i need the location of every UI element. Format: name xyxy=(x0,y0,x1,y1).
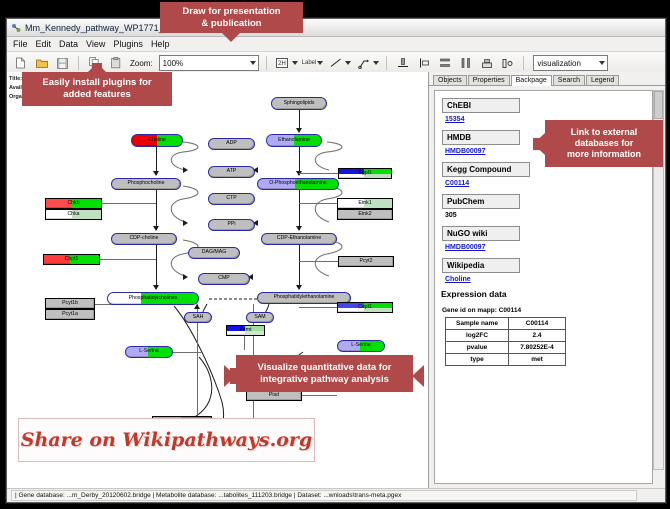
toolbar-separator-3 xyxy=(386,56,387,70)
edge-pcyt2-to-spine xyxy=(299,261,338,262)
node-sah[interactable]: SAH xyxy=(184,312,212,323)
edge-phosphocholine-cdpcholine xyxy=(156,190,157,230)
toolbar-separator xyxy=(78,56,79,70)
node-label: SAH xyxy=(193,315,204,320)
node-label: L-Serine xyxy=(351,343,371,348)
distribute-horizontal-icon[interactable] xyxy=(457,55,474,72)
node-phosphocholine[interactable]: Phosphocholine xyxy=(111,178,181,190)
node-gene-chkb[interactable]: Chkb xyxy=(45,198,102,209)
tab-search[interactable]: Search xyxy=(553,75,585,85)
label-tool[interactable]: Label xyxy=(302,60,324,66)
node-choline-top[interactable]: Choline xyxy=(131,134,183,147)
node-gene-chpt1[interactable]: Chpt1 xyxy=(43,254,100,265)
node-label: Phosphatidylcholines xyxy=(129,296,178,301)
node-label: Pcyt1b xyxy=(62,301,78,306)
menu-item-view[interactable]: View xyxy=(86,39,105,49)
menu-item-plugins[interactable]: Plugins xyxy=(113,39,143,49)
node-cmp[interactable]: CMP xyxy=(198,273,250,285)
table-cell-key: pvalue xyxy=(446,342,509,354)
arrow-right-icon xyxy=(183,167,188,173)
paste-icon[interactable] xyxy=(107,55,124,72)
node-label: Choline xyxy=(148,138,166,143)
table-row: log2FC 2.4 xyxy=(446,330,566,342)
table-cell-key: Sample name xyxy=(446,318,509,330)
callout-pointer-right xyxy=(224,365,236,387)
table-row: Sample name C00114 xyxy=(446,318,566,330)
chevron-down-icon[interactable] xyxy=(317,61,323,65)
canvas-info-title: Title: xyxy=(9,76,22,82)
node-label: Sgpl1 xyxy=(358,171,371,176)
node-sphingolipids[interactable]: Sphingolipids xyxy=(271,97,327,110)
node-label: Pcyt1a xyxy=(62,312,78,317)
tab-legend[interactable]: Legend xyxy=(586,75,619,85)
table-cell-key: log2FC xyxy=(446,330,509,342)
chevron-down-icon[interactable] xyxy=(373,61,379,65)
expression-data-heading: Expression data xyxy=(441,289,652,299)
node-cdp-ethanolamine[interactable]: CDP-Ethanolamine xyxy=(261,233,337,245)
db-header-chebi: ChEBI xyxy=(442,98,520,113)
screenshot-root: Mm_Kennedy_pathway_WP1771_45176.gpml Fil… xyxy=(0,0,670,509)
db-link-nugo-wiki[interactable]: HMDB00097 xyxy=(445,244,652,251)
node-ppi[interactable]: PPi xyxy=(208,219,255,231)
edge-chpt1-to-spine xyxy=(100,259,156,260)
node-gene-chka[interactable]: Chka xyxy=(45,209,102,220)
node-gene-pemt[interactable]: Pemt xyxy=(226,325,265,336)
edge-chk-to-spine xyxy=(102,203,156,204)
db-value-pubchem: 305 xyxy=(445,212,652,219)
node-label: ADP xyxy=(226,141,237,146)
arrow-right-icon xyxy=(183,274,188,280)
links-callout: Link to external databases for more info… xyxy=(545,120,663,167)
menu-item-edit[interactable]: Edit xyxy=(36,39,52,49)
edge-lserine-to-ptdss1 xyxy=(173,352,203,353)
node-gene-pcyt2[interactable]: Pcyt2 xyxy=(338,256,394,267)
node-label: CDP-Ethanolamine xyxy=(277,236,321,241)
arrow-down-icon xyxy=(296,226,302,231)
node-label: SAM xyxy=(254,315,265,320)
draw-callout: Draw for presentation & publication xyxy=(160,2,303,33)
db-header-nugo-wiki: NuGO wiki xyxy=(442,226,520,241)
callout-pointer-up xyxy=(88,63,106,72)
db-header-kegg-compound: Kegg Compound xyxy=(442,162,530,177)
chevron-down-icon xyxy=(250,61,256,65)
toolbar-separator-2 xyxy=(266,56,267,70)
interaction-icon[interactable] xyxy=(355,55,372,72)
stack-icon[interactable] xyxy=(478,55,495,72)
node-gene-sgpl1[interactable]: Sgpl1 xyxy=(338,168,392,179)
visualize-callout: Visualize quantitative data for integrat… xyxy=(236,355,413,392)
node-gene-etnk2[interactable]: Etnk2 xyxy=(337,209,393,220)
status-bar: | Gene database: ...m_Derby_20120602.bri… xyxy=(7,488,665,502)
tab-objects[interactable]: Objects xyxy=(433,75,467,85)
edge-sgpl1-to-spine xyxy=(299,173,338,174)
node-label: Chkb xyxy=(67,201,79,206)
node-label: Sphingolipids xyxy=(284,101,315,106)
expression-table: Sample name C00114 log2FC 2.4 pvalue 7.8… xyxy=(445,317,566,366)
open-folder-icon[interactable] xyxy=(33,55,50,72)
node-adp[interactable]: ADP xyxy=(208,138,255,150)
datanode-icon[interactable]: 2H xyxy=(274,55,291,72)
plugins-callout: Easily install plugins for added feature… xyxy=(22,72,172,106)
share-callout-text: Share on Wikipathways.org xyxy=(21,429,312,451)
callout-pointer-left xyxy=(533,133,545,155)
edge-cept1-to-spine xyxy=(299,307,337,308)
edge-cdpcholine-ptdcholine xyxy=(156,245,157,289)
node-l-serine-left[interactable]: L-Serine xyxy=(125,346,173,358)
node-gene-cept1[interactable]: Cept1 xyxy=(337,302,393,313)
table-cell-value: 7.80252E-4 xyxy=(509,342,566,354)
db-link-wikipedia[interactable]: Choline xyxy=(445,276,652,283)
arrow-down-icon xyxy=(153,171,159,176)
db-header-hmdb: HMDB xyxy=(442,130,520,145)
status-bar-text: | Gene database: ...m_Derby_20120602.bri… xyxy=(11,490,637,501)
visualization-value: visualization xyxy=(537,59,581,68)
node-label: Etnk1 xyxy=(358,201,371,206)
table-cell-key: type xyxy=(446,354,509,366)
align-top-icon[interactable] xyxy=(394,55,411,72)
edge-cdpeth-ptdeth xyxy=(299,245,300,289)
line-icon[interactable] xyxy=(327,55,344,72)
arrow-right-icon xyxy=(183,220,188,226)
node-label: O-Phosphoethanolamine xyxy=(269,181,326,186)
callout-pointer-down xyxy=(222,33,240,42)
distribute-vertical-icon[interactable] xyxy=(436,55,453,72)
title-bar: Mm_Kennedy_pathway_WP1771_45176.gpml xyxy=(7,19,665,37)
node-ethanolamine-top[interactable]: Ethanolamine xyxy=(266,134,322,147)
menu-item-help[interactable]: Help xyxy=(151,39,170,49)
zoom-value: 100% xyxy=(163,59,183,68)
save-icon[interactable] xyxy=(54,55,71,72)
node-label: Phosphatidylethanolamine xyxy=(274,295,335,300)
table-cell-value: met xyxy=(509,354,566,366)
node-gene-pcyt1a[interactable]: Pcyt1a xyxy=(45,309,95,320)
table-cell-value: 2.4 xyxy=(509,330,566,342)
node-label: Etnk2 xyxy=(358,212,371,217)
arrow-up-icon xyxy=(194,304,200,309)
node-gene-pcyt1b[interactable]: Pcyt1b xyxy=(45,298,95,309)
node-label: PPi xyxy=(227,222,235,227)
chevron-down-icon xyxy=(599,61,605,65)
node-label: CMP xyxy=(218,276,230,281)
chevron-down-icon[interactable] xyxy=(292,61,298,65)
scrollbar-thumb[interactable] xyxy=(654,91,663,119)
visualization-combo[interactable]: visualization xyxy=(533,55,608,71)
node-cdp-choline[interactable]: CDP-choline xyxy=(111,233,177,245)
node-label: Pcyt2 xyxy=(360,259,373,264)
edge-ophospho-cdpeth xyxy=(299,190,300,230)
new-file-icon[interactable] xyxy=(12,55,29,72)
line-tool[interactable] xyxy=(327,55,351,72)
edge-pisd-to-ptdss2 xyxy=(302,395,337,396)
arrow-down-icon xyxy=(296,128,302,133)
share-callout: Share on Wikipathways.org xyxy=(18,418,315,462)
edge-ptdcholine-down xyxy=(197,304,198,434)
datanode-tool[interactable]: 2H xyxy=(274,55,298,72)
interaction-tool[interactable] xyxy=(355,55,379,72)
align-left-icon[interactable] xyxy=(415,55,432,72)
tab-backpage[interactable]: Backpage xyxy=(511,75,552,86)
node-label: L-Serine xyxy=(139,349,159,354)
pathvisio-app-icon xyxy=(11,23,21,33)
side-panel-tabs: Objects Properties Backpage Search Legen… xyxy=(429,72,665,86)
node-l-serine-right[interactable]: L-Serine xyxy=(337,340,385,352)
node-label: Cept1 xyxy=(358,305,372,310)
zoom-combo[interactable]: 100% xyxy=(159,55,259,71)
node-dagmag[interactable]: DAG/MAG xyxy=(188,247,240,259)
edge-etnk-to-spine xyxy=(299,203,337,204)
callout-pointer-left-2 xyxy=(412,365,424,387)
chevron-down-icon[interactable] xyxy=(345,61,351,65)
arrow-down-icon xyxy=(153,226,159,231)
db-header-wikipedia: Wikipedia xyxy=(442,258,520,273)
menu-item-file[interactable]: File xyxy=(13,39,28,49)
gene-id-on-mapp: Gene id on mapp: C00114 xyxy=(442,307,652,314)
label-tool-text: Label xyxy=(302,60,317,66)
node-ctp[interactable]: CTP xyxy=(208,193,255,205)
group-icon[interactable] xyxy=(499,55,516,72)
node-label: Chka xyxy=(67,212,79,217)
node-label: CTP xyxy=(226,196,236,201)
menu-bar: File Edit Data View Plugins Help xyxy=(7,37,665,52)
node-sam[interactable]: SAM xyxy=(246,312,274,323)
arrow-down-icon xyxy=(296,285,302,290)
table-row: type met xyxy=(446,354,566,366)
arrow-down-icon xyxy=(153,285,159,290)
node-label: DAG/MAG xyxy=(202,250,227,255)
tab-properties[interactable]: Properties xyxy=(468,75,510,85)
node-o-phosphoethanolamine[interactable]: O-Phosphoethanolamine xyxy=(257,178,339,190)
zoom-label: Zoom: xyxy=(130,59,153,68)
toolbar-separator-4 xyxy=(523,56,524,70)
svg-text:2H: 2H xyxy=(278,61,286,67)
node-label: CDP-choline xyxy=(129,236,158,241)
node-label: Pemt xyxy=(239,328,251,333)
node-label: Ethanolamine xyxy=(278,138,310,143)
table-cell-value: C00114 xyxy=(509,318,566,330)
node-gene-etnk1[interactable]: Etnk1 xyxy=(337,198,393,209)
node-label: Pisd xyxy=(269,393,279,398)
node-label: ATP xyxy=(227,169,237,174)
table-row: pvalue 7.80252E-4 xyxy=(446,342,566,354)
db-link-kegg-compound[interactable]: C00114 xyxy=(445,180,652,187)
node-phosphatidylcholines[interactable]: Phosphatidylcholines xyxy=(107,292,199,305)
node-label: Phosphocholine xyxy=(128,181,165,186)
menu-item-data[interactable]: Data xyxy=(59,39,78,49)
node-atp[interactable]: ATP xyxy=(208,166,255,178)
node-label: Chpt1 xyxy=(65,257,79,262)
db-header-pubchem: PubChem xyxy=(442,194,520,209)
